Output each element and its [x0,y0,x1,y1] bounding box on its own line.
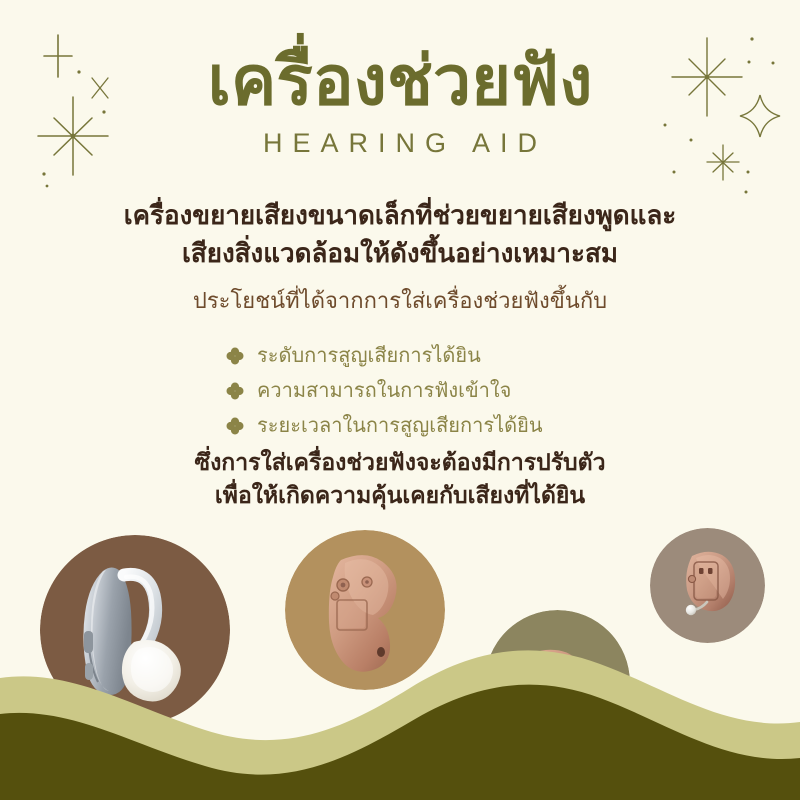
intro-copy: เครื่องขยายเสียงขนาดเล็กที่ช่วยขยายเสียง… [0,198,800,318]
lead-line: เสียงสิ่งแวดล้อมให้ดังขึ้นอย่างเหมาะสม [0,236,800,274]
closing-paragraph: ซึ่งการใส่เครื่องช่วยฟังจะต้องมีการปรับต… [0,447,800,514]
list-item-label: ระดับการสูญเสียการได้ยิน [257,340,481,371]
bottom-wave-decoration [0,610,800,800]
page-title: เครื่องช่วยฟัง [0,48,800,116]
page-subtitle: HEARING AID [0,128,800,159]
quatrefoil-clover-icon [223,344,247,368]
quatrefoil-clover-icon [223,414,247,438]
list-item-label: ระยะเวลาในการสูญเสียการได้ยิน [257,410,543,441]
hearing-aid-poster: เครื่องช่วยฟัง HEARING AID เครื่องขยายเส… [0,0,800,800]
quatrefoil-clover-icon [223,379,247,403]
closing-line: ซึ่งการใส่เครื่องช่วยฟังจะต้องมีการปรับต… [0,447,800,480]
list-item: ระยะเวลาในการสูญเสียการได้ยิน [217,410,583,441]
benefits-list: ระดับการสูญเสียการได้ยิน ความสามารถในการ… [0,340,800,445]
lead-paragraph: เครื่องขยายเสียงขนาดเล็กที่ช่วยขยายเสียง… [0,198,800,273]
list-item: ความสามารถในการฟังเข้าใจ [217,375,583,406]
benefits-subheading: ประโยชน์ที่ได้จากการใส่เครื่องช่วยฟังขึ้… [0,287,800,318]
closing-line: เพื่อให้เกิดความคุ้นเคยกับเสียงที่ได้ยิน [0,480,800,513]
lead-line: เครื่องขยายเสียงขนาดเล็กที่ช่วยขยายเสียง… [0,198,800,236]
list-item: ระดับการสูญเสียการได้ยิน [217,340,583,371]
list-item-label: ความสามารถในการฟังเข้าใจ [257,375,511,406]
poster-header: เครื่องช่วยฟัง HEARING AID [0,48,800,159]
